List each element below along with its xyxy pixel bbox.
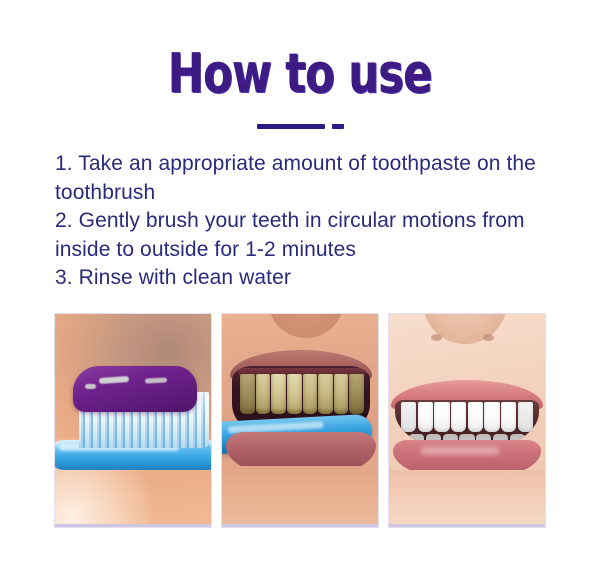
chin-shape bbox=[222, 466, 378, 524]
paste-highlight bbox=[85, 384, 96, 389]
tooth bbox=[271, 374, 286, 414]
tooth bbox=[401, 402, 416, 432]
divider-bar-icon bbox=[257, 124, 325, 129]
step-item-1: 1. Take an appropriate amount of toothpa… bbox=[55, 150, 567, 207]
gallery-image-brushing-stained-teeth bbox=[222, 314, 378, 527]
tooth bbox=[468, 402, 483, 432]
tooth bbox=[451, 402, 466, 432]
toothbrush-illustration bbox=[55, 314, 211, 524]
tooth bbox=[303, 374, 318, 414]
step-item-2: 2. Gently brush your teeth in circular m… bbox=[55, 207, 567, 264]
tooth bbox=[240, 374, 255, 414]
tooth bbox=[334, 374, 349, 414]
tooth bbox=[518, 402, 533, 432]
stained-teeth-illustration bbox=[222, 314, 378, 524]
white-smile-illustration bbox=[389, 314, 545, 524]
instruction-steps: 1. Take an appropriate amount of toothpa… bbox=[55, 150, 567, 293]
white-teeth-row bbox=[401, 402, 533, 432]
tooth bbox=[434, 402, 449, 432]
tooth bbox=[349, 374, 364, 414]
tooth bbox=[287, 374, 302, 414]
gallery-image-toothpaste-on-toothbrush bbox=[55, 314, 211, 527]
tooth bbox=[418, 402, 433, 432]
nostril-right bbox=[483, 334, 494, 341]
tooth bbox=[318, 374, 333, 414]
how-to-use-page: How to use 1. Take an appropriate amount… bbox=[0, 0, 600, 588]
tooth bbox=[484, 402, 499, 432]
chin-shape bbox=[389, 470, 545, 524]
purple-toothpaste-icon bbox=[73, 366, 197, 412]
smile-mouth bbox=[391, 370, 543, 474]
page-title: How to use bbox=[168, 46, 432, 102]
title-block: How to use bbox=[0, 46, 600, 102]
nostril-left bbox=[431, 334, 442, 341]
image-gallery bbox=[55, 314, 545, 524]
gallery-image-white-smile-result bbox=[389, 314, 545, 527]
tooth bbox=[256, 374, 271, 414]
divider-dash-icon bbox=[332, 124, 344, 129]
tooth bbox=[501, 402, 516, 432]
title-divider bbox=[0, 124, 600, 129]
step-item-3: 3. Rinse with clean water bbox=[55, 264, 567, 293]
stained-teeth-row bbox=[240, 374, 364, 414]
